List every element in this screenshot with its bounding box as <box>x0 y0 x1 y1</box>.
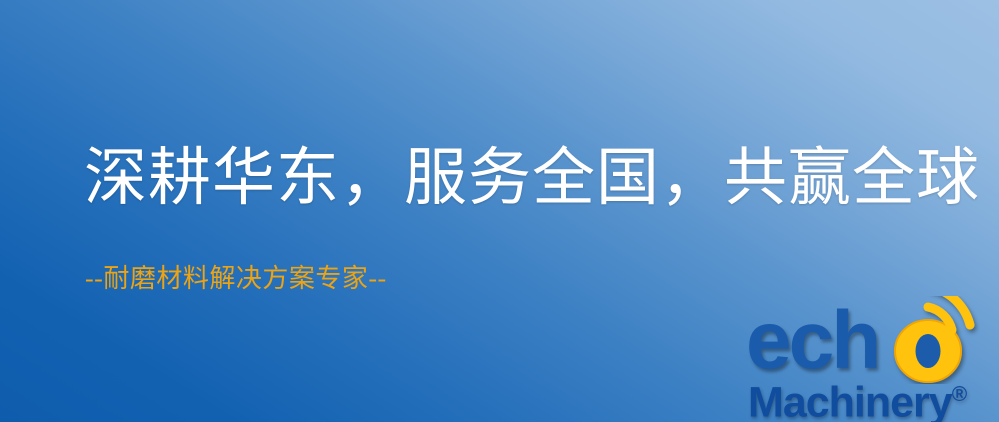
company-logo[interactable]: ech Machinery® <box>744 298 999 422</box>
logo-brand-text: ech <box>746 300 878 382</box>
logo-tagline-text: Machinery <box>748 378 952 422</box>
subtitle-tagline: --耐磨材料解决方案专家-- <box>85 266 387 292</box>
logo-tagline: Machinery® <box>748 373 967 422</box>
logo-wordmark: ech <box>744 298 999 384</box>
page-title: 深耕华东，服务全国，共赢全球 <box>84 147 980 210</box>
logo-o-with-waves-icon <box>888 296 999 384</box>
registered-trademark-symbol: ® <box>952 383 967 406</box>
promo-banner: 深耕华东，服务全国，共赢全球 --耐磨材料解决方案专家-- ech <box>0 0 999 422</box>
